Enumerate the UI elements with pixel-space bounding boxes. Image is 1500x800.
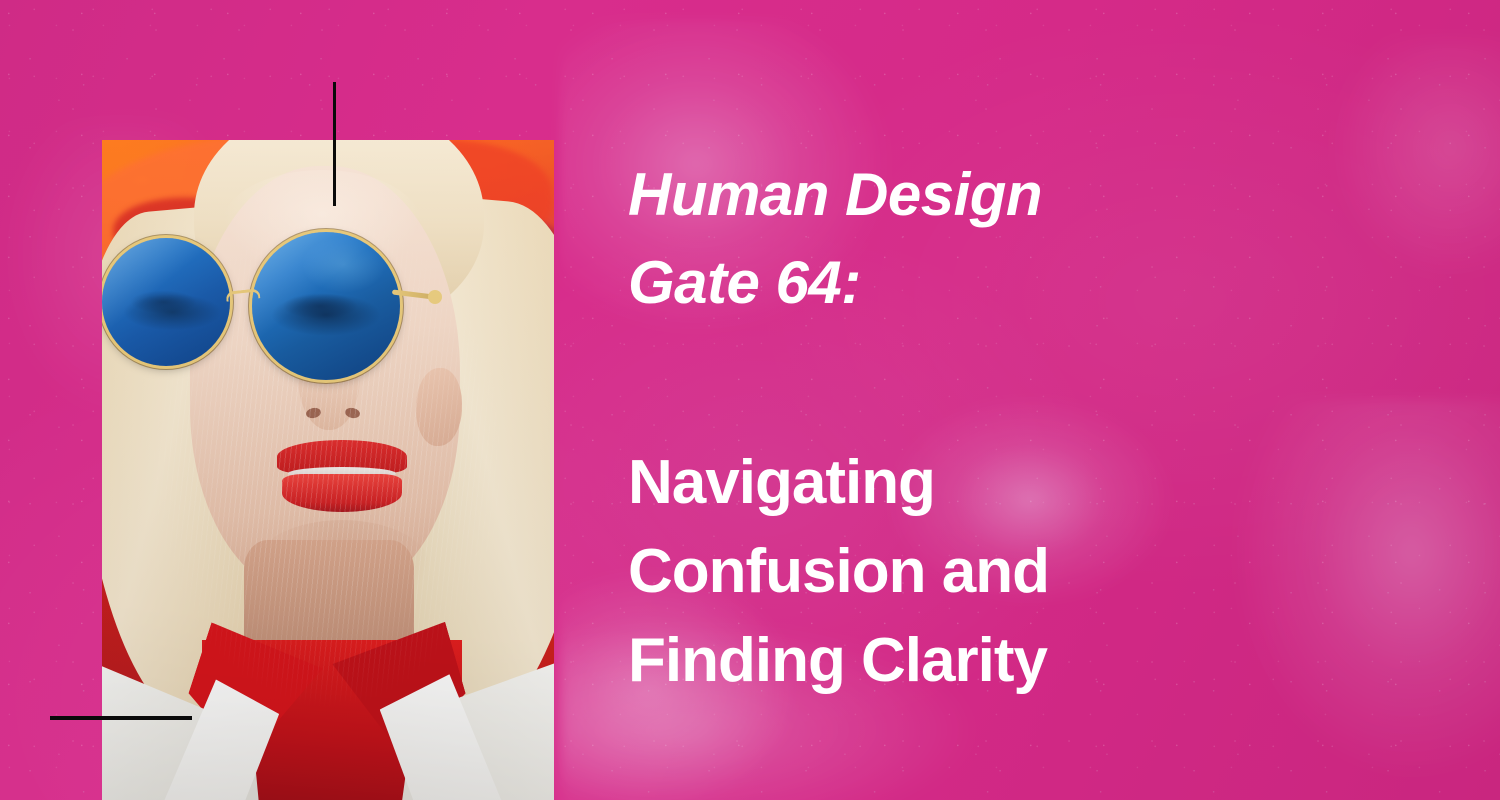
lens-glare-right (252, 232, 400, 380)
title-line-1: Human Design (628, 165, 1042, 225)
sunglasses-lens-right (252, 232, 400, 380)
sunglasses-hinge (428, 290, 442, 304)
sunglasses-lens-left (102, 238, 230, 366)
promo-banner: Human Design Gate 64: Navigating Confusi… (0, 0, 1500, 800)
horizontal-rule-decoration (50, 716, 192, 720)
lens-glare-left (102, 238, 230, 366)
title-line-2: Gate 64: (628, 253, 861, 313)
model-photo (102, 140, 554, 800)
subtitle-line-3: Finding Clarity (628, 630, 1047, 692)
subtitle-line-2: Confusion and (628, 541, 1049, 603)
subtitle-line-1: Navigating (628, 452, 935, 514)
headline-block: Human Design Gate 64: Navigating Confusi… (628, 0, 1268, 800)
vertical-rule-decoration (333, 82, 336, 206)
